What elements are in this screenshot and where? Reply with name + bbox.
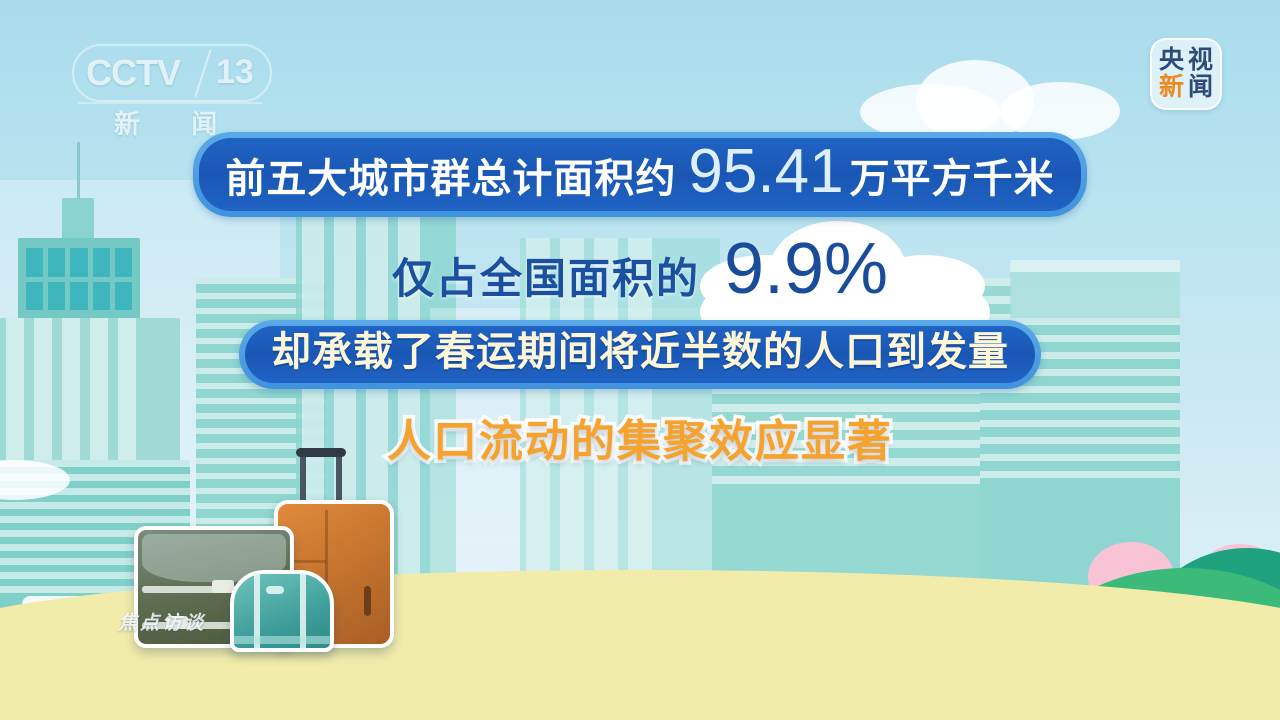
cctv-news-logo: 央 视 新 闻 xyxy=(1150,38,1222,110)
overlay-line-1-row: 前五大城市群总计面积约 95.41 万平方千米 xyxy=(0,132,1280,217)
duffel-bag-teal xyxy=(230,570,334,652)
line1-text-after: 万平方千米 xyxy=(850,156,1055,202)
broadcast-frame: CCTV 13 新 闻 央 视 新 闻 xyxy=(0,0,1280,720)
news-logo-char-wen: 闻 xyxy=(1188,75,1213,100)
line2-text-before: 仅占全国面积的 xyxy=(392,245,700,306)
news-logo-char-shi: 视 xyxy=(1188,48,1213,73)
overlay-line-2-row: 仅占全国面积的 9.9% xyxy=(0,233,1280,306)
news-logo-row-2: 新 闻 xyxy=(1159,75,1213,100)
cctv-13-logo: CCTV 13 新 闻 xyxy=(72,44,272,136)
line1-text-before: 前五大城市群总计面积约 xyxy=(225,156,676,202)
plain-line-2: 仅占全国面积的 9.9% xyxy=(392,233,888,306)
channel-number: 13 xyxy=(216,53,254,92)
banner-line-1: 前五大城市群总计面积约 95.41 万平方千米 xyxy=(193,132,1086,217)
banner-line-3-inner: 却承载了春运期间将近半数的人口到发量 xyxy=(245,326,1035,383)
overlay-line-4-row: 人口流动的集聚效应显著 xyxy=(0,405,1280,469)
line3-text: 却承载了春运期间将近半数的人口到发量 xyxy=(271,329,1009,375)
cctv-wordmark: CCTV xyxy=(86,52,180,94)
banner-line-3: 却承载了春运期间将近半数的人口到发量 xyxy=(239,320,1041,389)
line1-number-value: 95.41 xyxy=(688,141,843,203)
suitcase-side-grip xyxy=(364,586,371,616)
line2-number-value: 9.9% xyxy=(724,233,888,305)
line4-highlight-text: 人口流动的集聚效应显著 xyxy=(387,405,893,469)
duffel-zip-tab xyxy=(266,586,284,594)
banner-line-1-inner: 前五大城市群总计面积约 95.41 万平方千米 xyxy=(199,138,1080,211)
news-logo-char-yang: 央 xyxy=(1159,48,1184,73)
luggage-illustration xyxy=(140,448,410,673)
infographic-text-stack: 前五大城市群总计面积约 95.41 万平方千米 仅占全国面积的 9.9% 却承载… xyxy=(0,132,1280,469)
suitcase-latch xyxy=(212,580,234,593)
overlay-line-3-row: 却承载了春运期间将近半数的人口到发量 xyxy=(0,320,1280,389)
news-logo-row-1: 央 视 xyxy=(1159,48,1213,73)
news-logo-char-xin: 新 xyxy=(1159,75,1184,100)
program-watermark: 焦点访谈 xyxy=(118,608,206,635)
duffel-base-band xyxy=(234,636,330,644)
